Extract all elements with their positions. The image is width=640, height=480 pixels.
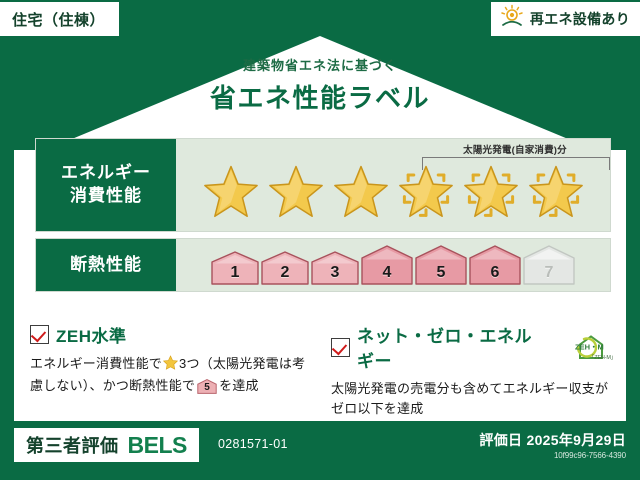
checkbox-checked-icon (30, 325, 49, 344)
zeh-standard-header: ZEH水準 (30, 322, 313, 347)
energy-row-caption: エネルギー 消費性能 (36, 139, 176, 231)
zeh-m-caption: 「ZEH-M」 (589, 353, 616, 361)
insulation-level-1: 1 (211, 251, 259, 285)
insulation-level-2: 2 (261, 251, 309, 285)
insulation-level-4: 4 (361, 245, 413, 285)
energy-caption-line1: エネルギー (61, 162, 151, 185)
evaluation-info: 評価日 2025年9月29日 10f99c96-7566-4390 (479, 430, 626, 460)
zeh-desc-part1: エネルギー消費性能で (30, 356, 162, 371)
zeh-desc-part3: を達成 (219, 378, 259, 393)
energy-performance-label: 住宅（住棟） 再エネ設備あり 建築物省エネ法に基づく 省エネ性能ラベル (0, 0, 640, 480)
bels-en-label: BELS (128, 432, 187, 459)
insulation-level-number: 5 (437, 264, 446, 285)
star-rating (176, 139, 610, 231)
net-zero-title: ネット・ゼロ・エネルギー (357, 322, 547, 372)
zeh-standard-title: ZEH水準 (56, 322, 127, 347)
insulation-level-5: 5 (415, 245, 467, 285)
insulation-level-3: 3 (311, 251, 359, 285)
inline-star-icon (163, 355, 178, 376)
building-type-label: 住宅（住棟） (12, 9, 105, 30)
inline-house-value: 5 (197, 380, 217, 396)
renewable-equipment-tag: 再エネ設備あり (491, 2, 640, 36)
insulation-caption-label: 断熱性能 (70, 254, 142, 277)
achievement-statements: ZEH水準 エネルギー消費性能で 3つ（太陽光発電は考慮しない）、かつ断熱性能で… (30, 322, 614, 419)
renewable-equipment-label: 再エネ設備あり (530, 9, 630, 29)
net-zero-header: ネット・ゼロ・エネルギー ZEH・M 「ZEH-M」 (331, 322, 614, 372)
insulation-level-number: 6 (491, 264, 500, 285)
svg-text:ZEH・M: ZEH・M (575, 343, 604, 352)
insulation-row-body: 1 2 3 4 5 6 7 (176, 239, 610, 291)
solar-sun-icon (499, 4, 525, 35)
insulation-performance-row: 断熱性能 1 2 3 4 5 (35, 238, 611, 292)
star-filled (200, 159, 262, 221)
star-filled-solar (395, 159, 457, 221)
insulation-level-7: 7 (523, 245, 575, 285)
zeh-m-logo: ZEH・M 「ZEH-M」 (556, 334, 614, 360)
star-filled (265, 159, 327, 221)
performance-rows: エネルギー 消費性能 太陽光発電(自家消費)分 (35, 138, 611, 298)
evaluation-date: 評価日 2025年9月29日 (479, 430, 626, 450)
label-footer: 第三者評価 BELS 0281571-01 評価日 2025年9月29日 10f… (0, 424, 640, 480)
inline-house-badge: 5 (197, 379, 217, 394)
insulation-row-caption: 断熱性能 (36, 239, 176, 291)
insulation-level-number: 3 (331, 264, 340, 285)
energy-performance-row: エネルギー 消費性能 太陽光発電(自家消費)分 (35, 138, 611, 232)
bels-badge: 第三者評価 BELS (14, 428, 199, 462)
insulation-level-number: 2 (281, 264, 290, 285)
evaluation-id: 10f99c96-7566-4390 (479, 451, 626, 460)
zeh-standard-description: エネルギー消費性能で 3つ（太陽光発電は考慮しない）、かつ断熱性能で 5 を達成 (30, 354, 313, 396)
energy-caption-line2: 消費性能 (70, 185, 142, 208)
heading-title: 省エネ性能ラベル (0, 78, 640, 115)
insulation-level-scale: 1 2 3 4 5 6 7 (176, 239, 610, 291)
insulation-level-number: 7 (545, 264, 554, 285)
building-type-tag: 住宅（住棟） (0, 2, 119, 36)
label-heading: 建築物省エネ法に基づく 省エネ性能ラベル (0, 55, 640, 115)
heading-subtitle: 建築物省エネ法に基づく (0, 55, 640, 74)
checkbox-checked-icon (331, 338, 350, 357)
insulation-level-number: 1 (231, 264, 240, 285)
bels-jp-label: 第三者評価 (26, 432, 119, 458)
energy-row-body: 太陽光発電(自家消費)分 (176, 139, 610, 231)
star-filled (330, 159, 392, 221)
net-zero-description: 太陽光発電の売電分も含めてエネルギー収支がゼロ以下を達成 (331, 379, 614, 419)
insulation-level-6: 6 (469, 245, 521, 285)
statement-net-zero-energy: ネット・ゼロ・エネルギー ZEH・M 「ZEH-M」 太陽光発電の売電分も含めて… (331, 322, 614, 419)
insulation-level-number: 4 (383, 264, 392, 285)
star-filled-solar (460, 159, 522, 221)
statement-zeh-standard: ZEH水準 エネルギー消費性能で 3つ（太陽光発電は考慮しない）、かつ断熱性能で… (30, 322, 313, 419)
bels-number: 0281571-01 (218, 437, 288, 451)
star-filled-solar (525, 159, 587, 221)
